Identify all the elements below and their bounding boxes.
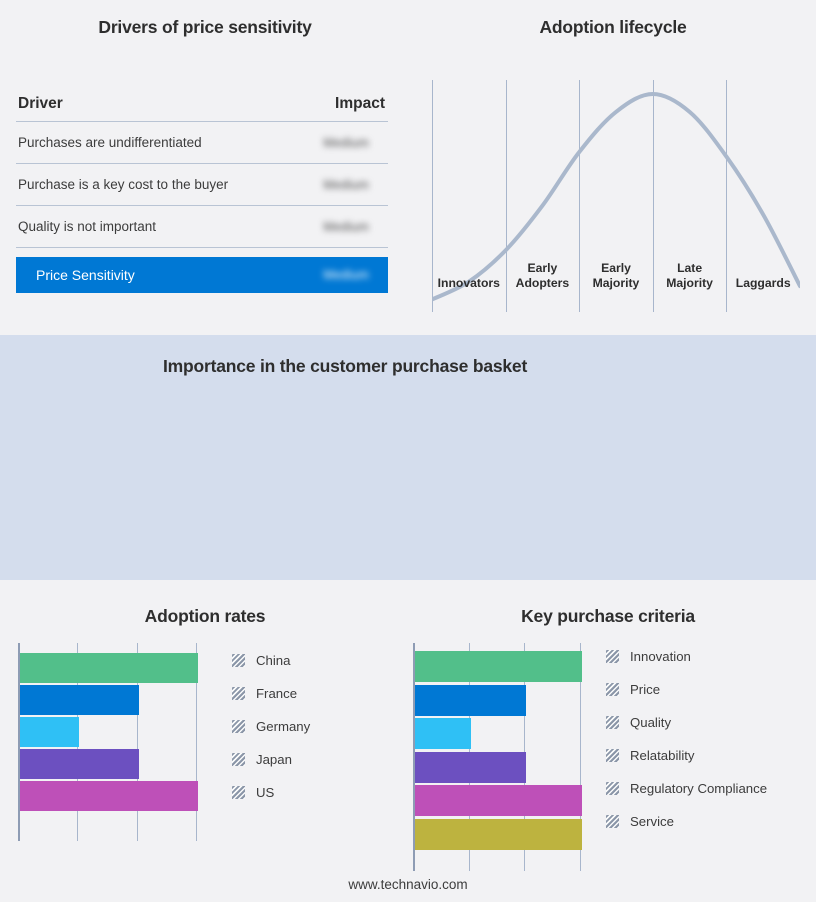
legend-item: Quality xyxy=(606,706,767,739)
legend-item: Regulatory Compliance xyxy=(606,772,767,805)
legend-swatch-icon xyxy=(232,720,245,733)
importance-panel: Importance in the customer purchase bask… xyxy=(0,335,816,580)
impact-value: Medium xyxy=(323,178,385,192)
bar-innovation xyxy=(415,651,582,682)
driver-label: Purchase is a key cost to the buyer xyxy=(18,177,228,192)
legend-swatch-icon xyxy=(232,687,245,700)
bar-china xyxy=(20,653,198,683)
drivers-title: Drivers of price sensitivity xyxy=(0,17,410,38)
stage-label: EarlyAdopters xyxy=(506,261,580,290)
footer-url: www.technavio.com xyxy=(0,877,816,892)
key-purchase-criteria-panel: Key purchase criteria InnovationPriceQua… xyxy=(400,580,816,627)
legend-label: US xyxy=(256,785,274,800)
bar-japan xyxy=(20,749,139,779)
legend-swatch-icon xyxy=(606,683,619,696)
legend-item: China xyxy=(232,644,310,677)
column-header-impact: Impact xyxy=(335,95,385,113)
legend-swatch-icon xyxy=(606,749,619,762)
stage-label: Laggards xyxy=(726,276,800,291)
legend-item: Germany xyxy=(232,710,310,743)
impact-value: Medium xyxy=(323,136,385,150)
lifecycle-stage-labels: InnovatorsEarlyAdoptersEarlyMajorityLate… xyxy=(432,268,800,312)
bottom-row: Adoption rates ChinaFranceGermanyJapanUS… xyxy=(0,580,816,902)
summary-label: Price Sensitivity xyxy=(36,267,135,283)
legend-swatch-icon xyxy=(606,815,619,828)
legend-label: Relatability xyxy=(630,748,695,763)
legend-label: China xyxy=(256,653,290,668)
table-row: Purchase is a key cost to the buyerMediu… xyxy=(16,164,388,206)
legend-label: Service xyxy=(630,814,674,829)
key-criteria-chart xyxy=(413,643,605,871)
importance-title: Importance in the customer purchase bask… xyxy=(0,356,816,377)
legend-swatch-icon xyxy=(232,786,245,799)
bar-price xyxy=(415,685,526,716)
legend-swatch-icon xyxy=(606,650,619,663)
drivers-panel: Drivers of price sensitivity Driver Impa… xyxy=(0,0,410,335)
lifecycle-title: Adoption lifecycle xyxy=(410,17,816,38)
adoption-lifecycle-panel: Adoption lifecycle InnovatorsEarlyAdopte… xyxy=(410,0,816,335)
price-sensitivity-summary-row: Price Sensitivity Medium xyxy=(16,257,388,293)
key-criteria-title: Key purchase criteria xyxy=(400,606,816,627)
drivers-table: Driver Impact Purchases are undifferenti… xyxy=(16,86,388,293)
stage-label: EarlyMajority xyxy=(579,261,653,290)
legend-swatch-icon xyxy=(606,782,619,795)
column-header-driver: Driver xyxy=(18,95,63,113)
bar-france xyxy=(20,685,139,715)
adoption-rates-legend: ChinaFranceGermanyJapanUS xyxy=(232,644,310,809)
top-row: Drivers of price sensitivity Driver Impa… xyxy=(0,0,816,335)
legend-swatch-icon xyxy=(232,753,245,766)
legend-label: Japan xyxy=(256,752,292,767)
bar-regulatory-compliance xyxy=(415,785,582,816)
impact-value: Medium xyxy=(323,220,385,234)
table-row: Purchases are undifferentiatedMedium xyxy=(16,122,388,164)
legend-item: Service xyxy=(606,805,767,838)
drivers-rows: Purchases are undifferentiatedMediumPurc… xyxy=(16,122,388,248)
stage-label: Innovators xyxy=(432,276,506,291)
legend-label: France xyxy=(256,686,297,701)
legend-label: Germany xyxy=(256,719,310,734)
legend-label: Quality xyxy=(630,715,671,730)
adoption-rates-chart xyxy=(18,643,223,841)
legend-label: Innovation xyxy=(630,649,691,664)
legend-item: Innovation xyxy=(606,640,767,673)
driver-label: Quality is not important xyxy=(18,219,156,234)
legend-label: Regulatory Compliance xyxy=(630,781,767,796)
legend-swatch-icon xyxy=(232,654,245,667)
adoption-rates-panel: Adoption rates ChinaFranceGermanyJapanUS xyxy=(0,580,410,627)
bar-quality xyxy=(415,718,471,749)
driver-label: Purchases are undifferentiated xyxy=(18,135,202,150)
legend-item: Price xyxy=(606,673,767,706)
legend-item: Relatability xyxy=(606,739,767,772)
table-header-row: Driver Impact xyxy=(16,86,388,122)
legend-label: Price xyxy=(630,682,660,697)
legend-item: US xyxy=(232,776,310,809)
adoption-rates-title: Adoption rates xyxy=(0,606,410,627)
summary-impact-value: Medium xyxy=(323,268,385,282)
legend-item: France xyxy=(232,677,310,710)
key-criteria-legend: InnovationPriceQualityRelatabilityRegula… xyxy=(606,640,767,838)
bar-service xyxy=(415,819,582,850)
bar-germany xyxy=(20,717,79,747)
bar-us xyxy=(20,781,198,811)
stage-label: LateMajority xyxy=(653,261,727,290)
legend-item: Japan xyxy=(232,743,310,776)
table-row: Quality is not importantMedium xyxy=(16,206,388,248)
bar-relatability xyxy=(415,752,526,783)
legend-swatch-icon xyxy=(606,716,619,729)
